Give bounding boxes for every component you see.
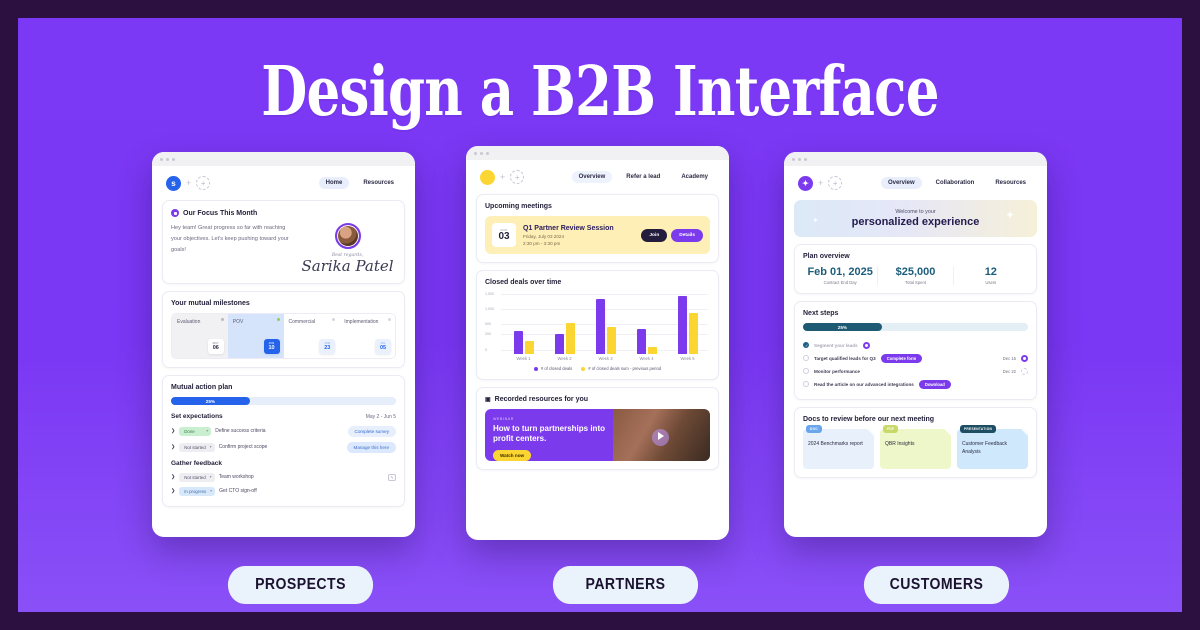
checkbox-icon[interactable]	[803, 381, 809, 387]
meeting-date-badge: MAR 03	[492, 223, 516, 247]
section-dates: May 2 - Jun 5	[366, 414, 396, 420]
milestone-date: JUL 05	[375, 339, 391, 354]
tab-overview[interactable]: Overview	[572, 171, 613, 183]
kpi-users: 12 Users	[954, 266, 1028, 285]
join-button[interactable]: Join	[641, 229, 667, 242]
task-row[interactable]: ❯ Not started Team workshop ✎	[171, 470, 396, 484]
chart-title: Closed deals over time	[485, 279, 710, 286]
doc-card[interactable]: DOC 2024 Benchmarks report	[803, 429, 874, 469]
x-tick: Week 3	[585, 356, 626, 361]
kpi-total-spent: $25,000 Total Spent	[878, 266, 953, 285]
doc-card[interactable]: PRESENTATION Customer Feedback Analysis	[957, 429, 1028, 469]
window-dot	[166, 158, 169, 161]
app-nav: s + + Home Resources	[162, 166, 405, 200]
bar-chart: 1,500 1,000 500 200 0	[485, 292, 710, 354]
app-nav: ✦ + + Overview Collaboration Resources	[794, 166, 1037, 200]
status-dot-icon	[332, 318, 335, 321]
docs-heading: Docs to review before our next meeting	[803, 416, 1028, 423]
milestones-heading: Your mutual milestones	[171, 300, 396, 307]
bar-group	[626, 329, 667, 354]
plus-icon: +	[186, 178, 191, 188]
window-dot	[160, 158, 163, 161]
kpi-label: Contract End Day	[803, 280, 877, 285]
x-axis-labels: Week 1 Week 2 Week 3 Week 4 Week 5	[503, 356, 708, 361]
docs-panel: Docs to review before our next meeting D…	[794, 407, 1037, 478]
tab-home[interactable]: Home	[319, 177, 350, 189]
bar	[525, 341, 534, 354]
sparkle-icon	[171, 209, 179, 217]
tab-overview[interactable]: Overview	[881, 177, 922, 189]
window-dot	[172, 158, 175, 161]
brand-logo-icon	[480, 170, 495, 185]
segment-labels: PROSPECTS PARTNERS CUSTOMERS	[18, 566, 1182, 606]
sparkle-icon: ✦	[812, 216, 819, 225]
sparkle-icon: ✦	[1005, 208, 1015, 222]
details-button[interactable]: Details	[671, 229, 703, 242]
bar	[678, 296, 687, 354]
bar-group	[667, 296, 708, 354]
window-dot	[474, 152, 477, 155]
progress-bar: 25%	[803, 323, 1028, 331]
chart-legend: # of closed deals # of closed deals sum …	[485, 366, 710, 371]
milestone-tile[interactable]: Implementation JUL 05	[339, 314, 395, 358]
window-dot	[792, 158, 795, 161]
status-select[interactable]: Not started	[179, 473, 214, 482]
page-fold-icon	[944, 429, 951, 436]
plan-overview-panel: Plan overview Feb 01, 2025 Contract End …	[794, 244, 1037, 294]
doc-title: 2024 Benchmarks report	[808, 441, 869, 449]
gear-icon[interactable]	[863, 342, 870, 349]
task-row[interactable]: ❯ In progress Get CTO sign-off	[171, 484, 396, 498]
tab-academy[interactable]: Academy	[674, 171, 715, 183]
card-partners[interactable]: + + Overview Refer a lead Academy Upcomi…	[466, 146, 729, 540]
app-nav: + + Overview Refer a lead Academy	[476, 160, 719, 194]
focus-panel: Our Focus This Month Hey team! Great pro…	[162, 200, 405, 284]
next-steps-panel: Next steps 25% Segment your leads Target…	[794, 301, 1037, 400]
bar-group	[585, 299, 626, 354]
window-titlebar	[152, 152, 415, 166]
focus-body: Hey team! Great progress so far with rea…	[171, 223, 291, 275]
label-prospects[interactable]: PROSPECTS	[228, 566, 373, 604]
checkbox-checked-icon[interactable]	[803, 342, 809, 348]
window-dot	[480, 152, 483, 155]
milestone-tile[interactable]: POV JUN 10	[228, 314, 284, 358]
step-date: Dec 22	[1003, 369, 1016, 374]
y-tick: 0	[485, 348, 487, 352]
meeting-day: 03	[498, 232, 509, 242]
legend-item: # of closed deals sum - previous period	[581, 366, 661, 371]
status-select[interactable]: In progress	[179, 487, 215, 496]
kpi-value: 12	[954, 266, 1028, 278]
status-select[interactable]: Done	[179, 427, 211, 436]
bar	[566, 323, 575, 354]
x-tick: Week 4	[626, 356, 667, 361]
resources-heading-text: Recorded resources for you	[495, 396, 588, 403]
progress-value: 25%	[803, 323, 882, 331]
task-row[interactable]: ❯ Not started Confirm project scope Mana…	[171, 439, 396, 455]
milestone-tile[interactable]: Evaluation MAY 06	[172, 314, 228, 358]
status-dot-icon	[388, 318, 391, 321]
tab-resources[interactable]: Resources	[356, 177, 401, 189]
status-dot-icon	[277, 318, 280, 321]
checkbox-icon[interactable]	[803, 355, 809, 361]
chart-bars	[503, 292, 708, 354]
webinar-kicker: WEBINAR	[493, 417, 605, 421]
brand-logo-icon: ✦	[798, 176, 813, 191]
section-title: Set expectations	[171, 413, 223, 420]
webinar-title: How to turn partnerships into profit cen…	[493, 424, 605, 444]
add-logo-placeholder-icon[interactable]: +	[196, 176, 210, 190]
chart-panel: Closed deals over time 1,500 1,000 500 2…	[476, 270, 719, 380]
chevron-right-icon[interactable]: ❯	[171, 474, 175, 480]
step-row[interactable]: Read the article on our advanced integra…	[803, 377, 1028, 391]
watch-now-button[interactable]: Watch now	[493, 450, 531, 461]
milestones-track: Evaluation MAY 06 POV JUN	[171, 313, 396, 359]
task-text: Confirm project scope	[219, 444, 343, 450]
step-text: Read the article on our advanced integra…	[814, 382, 914, 387]
status-dot-icon	[221, 318, 224, 321]
legend-label: # of closed deals	[541, 366, 572, 371]
section-title: Gather feedback	[171, 460, 222, 467]
tab-collaboration[interactable]: Collaboration	[929, 177, 982, 189]
plus-icon: +	[500, 172, 505, 182]
milestone-label: Commercial	[289, 319, 335, 325]
signature-text: Sarika Patel	[299, 257, 396, 275]
doc-kind-badge: PRESENTATION	[960, 425, 996, 433]
tab-resources[interactable]: Resources	[988, 177, 1033, 189]
milestone-day: 06	[213, 345, 219, 351]
poster-canvas: Design a B2B Interface s + + Home Resour…	[18, 18, 1182, 612]
legend-label: # of closed deals sum - previous period	[588, 366, 661, 371]
welcome-banner: ✦ ✦ Welcome to your personalized experie…	[794, 200, 1037, 237]
plus-icon: +	[818, 178, 823, 188]
doc-title: QBR Insights	[885, 441, 946, 449]
step-text: Monitor performance	[814, 369, 860, 374]
kpi-value: Feb 01, 2025	[803, 266, 877, 278]
y-tick: 1,500	[485, 292, 494, 296]
bar	[555, 334, 564, 354]
add-logo-placeholder-icon[interactable]: +	[828, 176, 842, 190]
x-tick: Week 5	[667, 356, 708, 361]
window-dot	[804, 158, 807, 161]
page-title: Design a B2B Interface	[146, 52, 1054, 132]
gear-placeholder-icon[interactable]	[1021, 368, 1028, 375]
step-text: Target qualified leads for Q3	[814, 356, 876, 361]
kpi-contract-end: Feb 01, 2025 Contract End Day	[803, 266, 878, 285]
y-tick: 1,000	[485, 307, 494, 311]
step-row[interactable]: Monitor performance Dec 22	[803, 365, 1028, 377]
brand-logo-icon: s	[166, 176, 181, 191]
milestone-tile[interactable]: Commercial JUN 23	[284, 314, 340, 358]
task-action-button[interactable]: Manage this here	[347, 442, 397, 453]
task-text: Get CTO sign-off	[219, 488, 396, 494]
chevron-right-icon[interactable]: ❯	[171, 428, 175, 434]
task-text: Team workshop	[219, 474, 384, 480]
label-partners[interactable]: PARTNERS	[553, 566, 698, 604]
bar-group	[544, 323, 585, 354]
bar	[596, 299, 605, 354]
doc-kind-badge: DOC	[806, 425, 822, 433]
doc-card[interactable]: PDF QBR Insights	[880, 429, 951, 469]
milestone-date: JUN 10	[264, 339, 280, 354]
next-steps-heading: Next steps	[803, 310, 1028, 317]
milestone-label: POV	[233, 319, 279, 325]
kpi-label: Total Spent	[878, 280, 952, 285]
y-tick: 500	[485, 322, 491, 326]
bar	[637, 329, 646, 354]
cards-row: s + + Home Resources Our Focus This Mont…	[18, 152, 1182, 552]
gear-icon[interactable]	[1021, 355, 1028, 362]
progress-bar: 25%	[171, 397, 396, 405]
x-tick: Week 1	[503, 356, 544, 361]
label-customers[interactable]: CUSTOMERS	[864, 566, 1009, 604]
milestone-label: Evaluation	[177, 319, 223, 325]
webinar-banner[interactable]: WEBINAR How to turn partnerships into pr…	[485, 409, 710, 461]
meeting-title: Q1 Partner Review Session	[523, 225, 614, 232]
bar	[607, 327, 616, 354]
page-fold-icon	[1021, 429, 1028, 436]
complete-form-button[interactable]: Complete form	[881, 354, 923, 363]
meetings-panel: Upcoming meetings MAR 03 Q1 Partner Revi…	[476, 194, 719, 263]
meetings-heading: Upcoming meetings	[485, 203, 710, 210]
kpi-value: $25,000	[878, 266, 952, 278]
task-action-button[interactable]: Complete survey	[348, 426, 396, 437]
milestone-day: 05	[380, 345, 386, 351]
bar-group	[503, 331, 544, 354]
welcome-small: Welcome to your	[800, 209, 1031, 215]
card-customers[interactable]: ✦ + + Overview Collaboration Resources ✦…	[784, 152, 1047, 537]
checkbox-icon[interactable]	[803, 368, 809, 374]
doc-title: Customer Feedback Analysis	[962, 441, 1023, 456]
page-fold-icon	[867, 429, 874, 436]
progress-value: 25%	[171, 397, 250, 405]
action-plan-panel: Mutual action plan 25% Set expectations …	[162, 375, 405, 507]
window-dot	[486, 152, 489, 155]
step-row[interactable]: Target qualified leads for Q3 Complete f…	[803, 351, 1028, 365]
meeting-time: 2:30 pm - 3:30 pm	[523, 241, 614, 246]
webinar-thumbnail[interactable]	[613, 409, 710, 461]
action-plan-heading: Mutual action plan	[171, 384, 396, 391]
milestone-day: 23	[324, 345, 330, 351]
milestone-day: 10	[268, 345, 274, 351]
comment-icon[interactable]: ✎	[388, 474, 396, 481]
bar	[648, 347, 657, 354]
task-row[interactable]: ❯ Done Define success criteria Complete …	[171, 423, 396, 439]
step-row[interactable]: Segment your leads	[803, 339, 1028, 351]
milestone-label: Implementation	[344, 319, 390, 325]
focus-heading: Our Focus This Month	[171, 209, 396, 217]
card-prospects[interactable]: s + + Home Resources Our Focus This Mont…	[152, 152, 415, 537]
step-text: Segment your leads	[814, 343, 858, 348]
step-date: Dec 15	[1003, 356, 1016, 361]
video-icon: ▣	[485, 396, 491, 403]
meeting-row[interactable]: MAR 03 Q1 Partner Review Session Friday,…	[485, 216, 710, 254]
add-logo-placeholder-icon[interactable]: +	[510, 170, 524, 184]
legend-item: # of closed deals	[534, 366, 572, 371]
doc-kind-badge: PDF	[883, 425, 898, 433]
meeting-date: Friday, July 03 2024	[523, 234, 614, 239]
resources-heading: ▣ Recorded resources for you	[485, 396, 710, 403]
tab-refer-a-lead[interactable]: Refer a lead	[619, 171, 667, 183]
milestone-date: JUN 23	[319, 339, 335, 354]
chevron-right-icon[interactable]: ❯	[171, 444, 175, 450]
bar	[689, 313, 698, 354]
milestones-panel: Your mutual milestones Evaluation MAY 06…	[162, 291, 405, 368]
window-titlebar	[466, 146, 729, 160]
focus-heading-text: Our Focus This Month	[183, 210, 257, 217]
plan-overview-heading: Plan overview	[803, 253, 1028, 260]
y-tick: 200	[485, 332, 491, 336]
kpi-label: Users	[954, 280, 1028, 285]
chevron-right-icon[interactable]: ❯	[171, 488, 175, 494]
window-titlebar	[784, 152, 1047, 166]
bar	[514, 331, 523, 354]
milestone-date: MAY 06	[208, 339, 224, 354]
status-select[interactable]: Not started	[179, 443, 214, 452]
task-text: Define success criteria	[215, 428, 343, 434]
window-dot	[798, 158, 801, 161]
avatar	[335, 223, 361, 249]
x-tick: Week 2	[544, 356, 585, 361]
welcome-big: personalized experience	[800, 216, 1031, 228]
download-button[interactable]: Download	[919, 380, 951, 389]
resources-panel: ▣ Recorded resources for you WEBINAR How…	[476, 387, 719, 470]
